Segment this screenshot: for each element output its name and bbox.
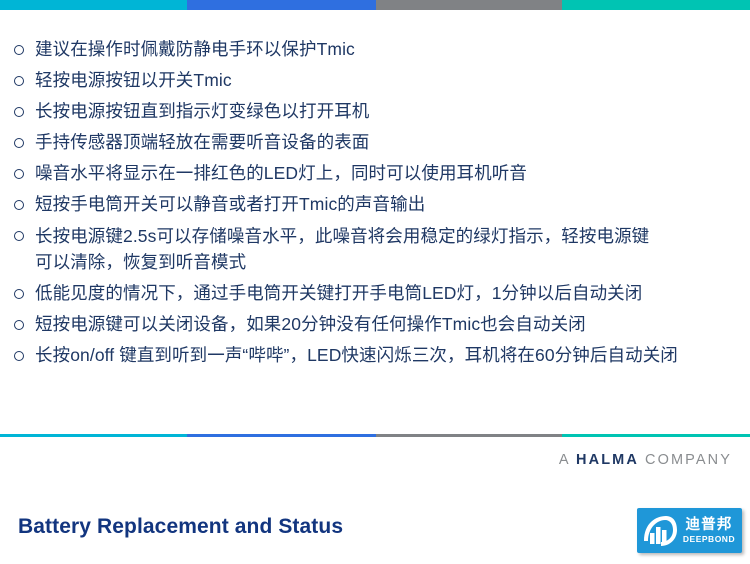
bullet-circle-icon — [14, 160, 35, 181]
list-item-text: 低能见度的情况下，通过手电筒开关键打开手电筒LED灯，1分钟以后自动关闭 — [35, 280, 725, 307]
bullet-circle-icon — [14, 191, 35, 212]
bullet-circle-icon — [14, 98, 35, 119]
bullet-circle-icon — [14, 129, 35, 150]
list-item-text: 噪音水平将显示在一排红色的LED灯上，同时可以使用耳机听音 — [35, 160, 740, 187]
bullet-list: 建议在操作时佩戴防静电手环以保护Tmic 轻按电源按钮以开关Tmic 长按电源按… — [14, 36, 740, 374]
tagline-word-halma: HALMA — [576, 452, 639, 468]
top-bar-segment-blue — [187, 0, 376, 10]
halma-company-tagline: A HALMA COMPANY — [559, 452, 732, 468]
divider-segment-teal — [562, 434, 750, 437]
top-bar-segment-teal — [562, 0, 750, 10]
top-bar-segment-cyan — [0, 0, 187, 10]
divider-segment-gray — [376, 434, 562, 437]
deepbond-logo-text: 迪普邦 DEEPBOND — [679, 518, 742, 543]
list-item-text: 短按电源键可以关闭设备，如果20分钟没有任何操作Tmic也会自动关闭 — [35, 311, 723, 338]
deepbond-logo-cn: 迪普邦 — [679, 518, 739, 533]
list-item-text: 长按电源键2.5s可以存储噪音水平，此噪音将会用稳定的绿灯指示，轻按电源键可以清… — [35, 223, 657, 276]
tagline-word-company: COMPANY — [645, 452, 732, 468]
list-item-text: 短按手电筒开关可以静音或者打开Tmic的声音输出 — [35, 191, 740, 218]
list-item: 建议在操作时佩戴防静电手环以保护Tmic — [14, 36, 740, 63]
divider-segment-cyan — [0, 434, 187, 437]
list-item: 手持传感器顶端轻放在需要听音设备的表面 — [14, 129, 740, 156]
bullet-circle-icon — [14, 67, 35, 88]
list-item-text: 建议在操作时佩戴防静电手环以保护Tmic — [35, 36, 740, 63]
footer-divider — [0, 434, 750, 437]
list-item-text: 长按电源按钮直到指示灯变绿色以打开耳机 — [35, 98, 740, 125]
list-item-text: 轻按电源按钮以开关Tmic — [35, 67, 740, 94]
list-item: 短按手电筒开关可以静音或者打开Tmic的声音输出 — [14, 191, 740, 218]
page-title: Battery Replacement and Status — [18, 515, 343, 539]
tagline-word-a: A — [559, 452, 570, 468]
list-item: 噪音水平将显示在一排红色的LED灯上，同时可以使用耳机听音 — [14, 160, 740, 187]
divider-segment-blue — [187, 434, 376, 437]
list-item-text: 长按on/off 键直到听到一声“哔哔”，LED快速闪烁三次，耳机将在60分钟后… — [35, 342, 717, 369]
bullet-circle-icon — [14, 342, 35, 363]
list-item: 长按on/off 键直到听到一声“哔哔”，LED快速闪烁三次，耳机将在60分钟后… — [14, 342, 740, 369]
list-item: 短按电源键可以关闭设备，如果20分钟没有任何操作Tmic也会自动关闭 — [14, 311, 740, 338]
list-item: 轻按电源按钮以开关Tmic — [14, 67, 740, 94]
bullet-circle-icon — [14, 311, 35, 332]
deepbond-logo: 迪普邦 DEEPBOND — [637, 508, 742, 553]
bullet-circle-icon — [14, 36, 35, 57]
bullet-circle-icon — [14, 223, 35, 244]
list-item-text: 手持传感器顶端轻放在需要听音设备的表面 — [35, 129, 740, 156]
top-color-bar — [0, 0, 750, 10]
list-item: 长按电源按钮直到指示灯变绿色以打开耳机 — [14, 98, 740, 125]
deepbond-logo-en: DEEPBOND — [679, 535, 739, 544]
bullet-circle-icon — [14, 280, 35, 301]
top-bar-segment-gray — [376, 0, 562, 10]
deepbond-d-mark-icon — [639, 511, 679, 551]
list-item: 长按电源键2.5s可以存储噪音水平，此噪音将会用稳定的绿灯指示，轻按电源键可以清… — [14, 223, 740, 276]
list-item: 低能见度的情况下，通过手电筒开关键打开手电筒LED灯，1分钟以后自动关闭 — [14, 280, 740, 307]
